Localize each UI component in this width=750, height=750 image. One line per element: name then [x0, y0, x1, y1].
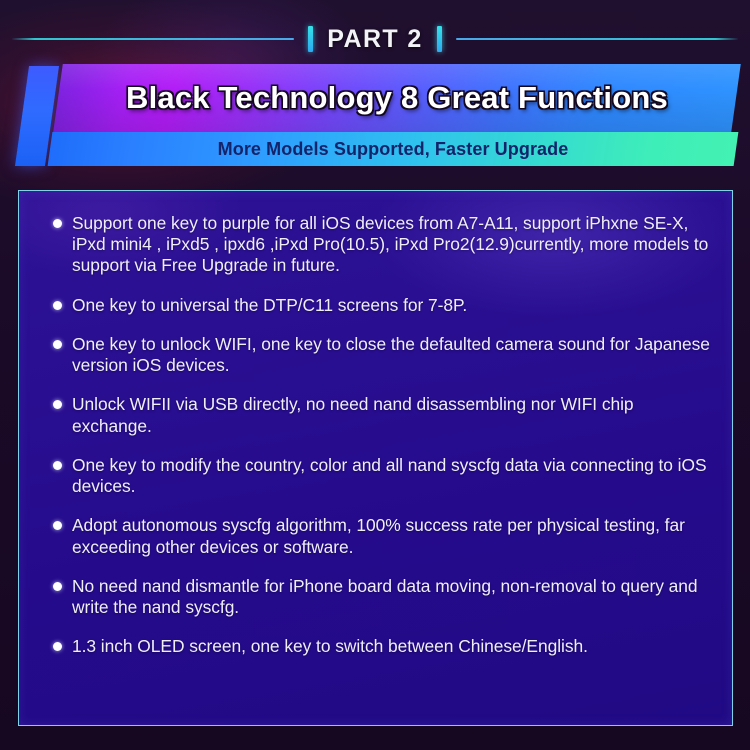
- list-item: 1.3 inch OLED screen, one key to switch …: [39, 636, 710, 657]
- list-item: One key to modify the country, color and…: [39, 455, 710, 497]
- part-label: PART 2: [327, 25, 422, 54]
- rule-left-icon: [12, 38, 294, 40]
- rule-right-icon: [456, 38, 738, 40]
- title-banner: Black Technology 8 Great Functions More …: [14, 64, 736, 168]
- list-item: One key to universal the DTP/C11 screens…: [39, 295, 710, 316]
- tick-right-icon: [437, 26, 442, 52]
- bullet-dot-icon: [53, 340, 62, 349]
- list-item-text: No need nand dismantle for iPhone board …: [72, 576, 698, 617]
- bullet-dot-icon: [53, 582, 62, 591]
- list-item: Unlock WIFII via USB directly, no need n…: [39, 394, 710, 436]
- list-item-text: 1.3 inch OLED screen, one key to switch …: [72, 636, 588, 656]
- bullet-dot-icon: [53, 301, 62, 310]
- list-item-text: One key to modify the country, color and…: [72, 455, 707, 496]
- list-item-text: One key to unlock WIFI, one key to close…: [72, 334, 710, 375]
- list-item-text: Support one key to purple for all iOS de…: [72, 213, 708, 275]
- list-item-text: Unlock WIFII via USB directly, no need n…: [72, 394, 634, 435]
- banner-title: Black Technology 8 Great Functions: [58, 64, 736, 132]
- tick-left-icon: [308, 26, 313, 52]
- bullet-dot-icon: [53, 521, 62, 530]
- part-header-row: PART 2: [0, 18, 750, 60]
- list-item: One key to unlock WIFI, one key to close…: [39, 334, 710, 376]
- bullet-dot-icon: [53, 219, 62, 228]
- bullet-dot-icon: [53, 400, 62, 409]
- list-item-text: Adopt autonomous syscfg algorithm, 100% …: [72, 515, 685, 556]
- list-item: Adopt autonomous syscfg algorithm, 100% …: [39, 515, 710, 557]
- feature-card: Support one key to purple for all iOS de…: [18, 190, 733, 726]
- list-item: No need nand dismantle for iPhone board …: [39, 576, 710, 618]
- bullet-dot-icon: [53, 642, 62, 651]
- banner-subtitle: More Models Supported, Faster Upgrade: [50, 132, 736, 166]
- feature-list: Support one key to purple for all iOS de…: [19, 191, 732, 658]
- list-item: Support one key to purple for all iOS de…: [39, 213, 710, 277]
- page-root: PART 2 Black Technology 8 Great Function…: [0, 0, 750, 750]
- list-item-text: One key to universal the DTP/C11 screens…: [72, 295, 467, 315]
- bullet-dot-icon: [53, 461, 62, 470]
